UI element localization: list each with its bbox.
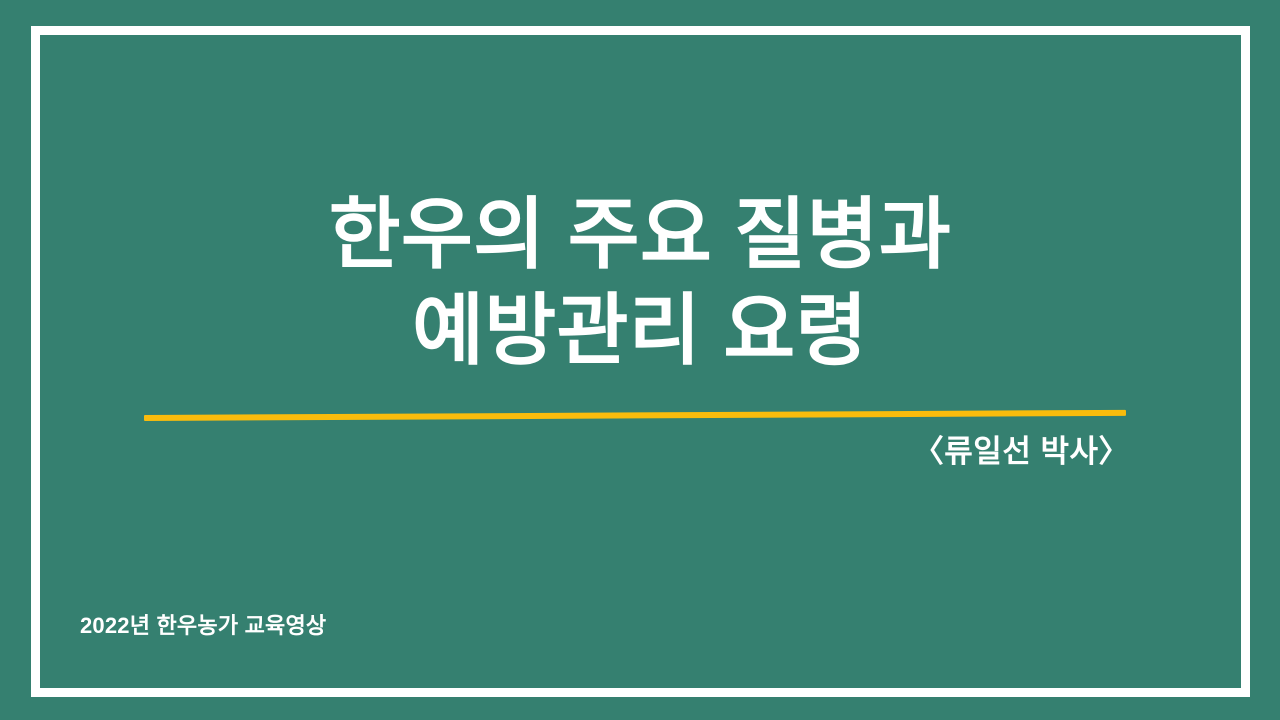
divider-line: [144, 410, 1126, 421]
title-line-1: 한우의 주요 질병과: [0, 186, 1280, 282]
footer-caption: 2022년 한우농가 교육영상: [80, 611, 326, 641]
speaker-credit: 〈류일선 박사〉: [913, 432, 1130, 472]
page-title: 한우의 주요 질병과 예방관리 요령: [0, 186, 1280, 378]
title-line-2: 예방관리 요령: [0, 282, 1280, 378]
title-divider: [144, 404, 1126, 430]
title-slide: 한우의 주요 질병과 예방관리 요령 〈류일선 박사〉 2022년 한우농가 교…: [0, 0, 1280, 720]
